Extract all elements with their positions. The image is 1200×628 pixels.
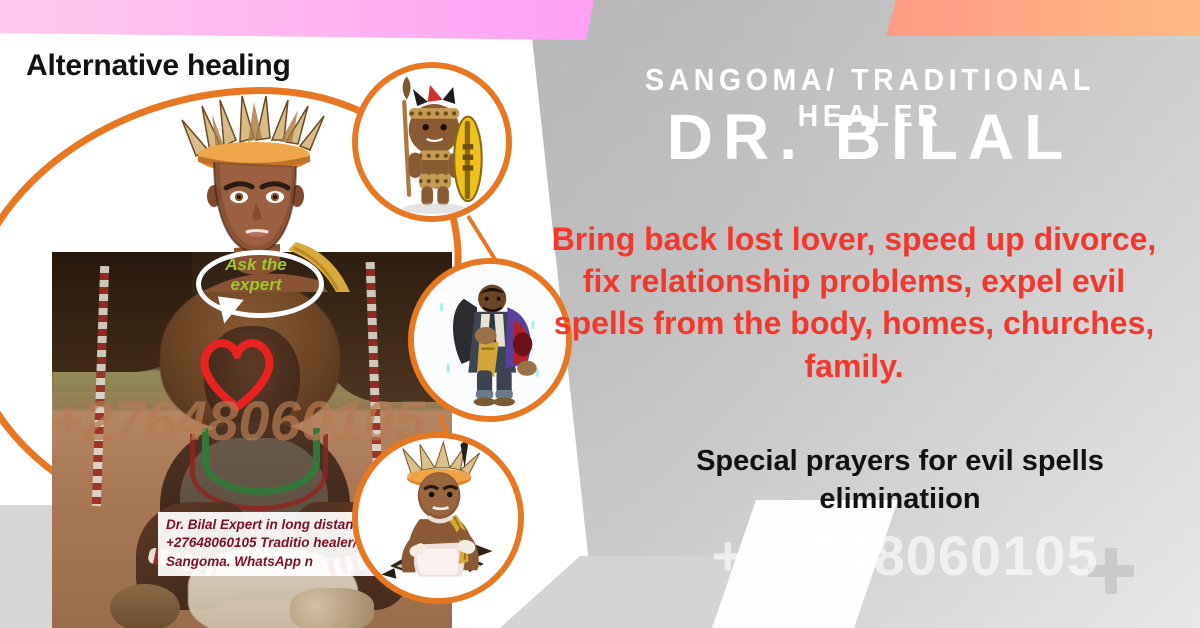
- pink-accent-bar: [0, 0, 600, 40]
- ghost-phone-number: +27648060105: [620, 523, 1190, 588]
- poster-canvas: Alternative healing +27648060105: [0, 0, 1200, 628]
- doctor-name-title: DR. BILAL: [560, 104, 1180, 171]
- badge-crouching-sangoma[interactable]: [352, 432, 524, 604]
- speech-bubble-text: Ask the expert: [206, 255, 306, 294]
- services-description: Bring back lost lover, speed up divorce,…: [534, 218, 1174, 387]
- special-prayers-text: Special prayers for evil spells eliminat…: [620, 443, 1180, 518]
- salmon-accent-bar: [886, 0, 1200, 36]
- crouching-sangoma-illustration: [358, 438, 518, 598]
- badge-zulu-warrior[interactable]: [352, 62, 512, 222]
- zulu-warrior-illustration: [358, 68, 506, 216]
